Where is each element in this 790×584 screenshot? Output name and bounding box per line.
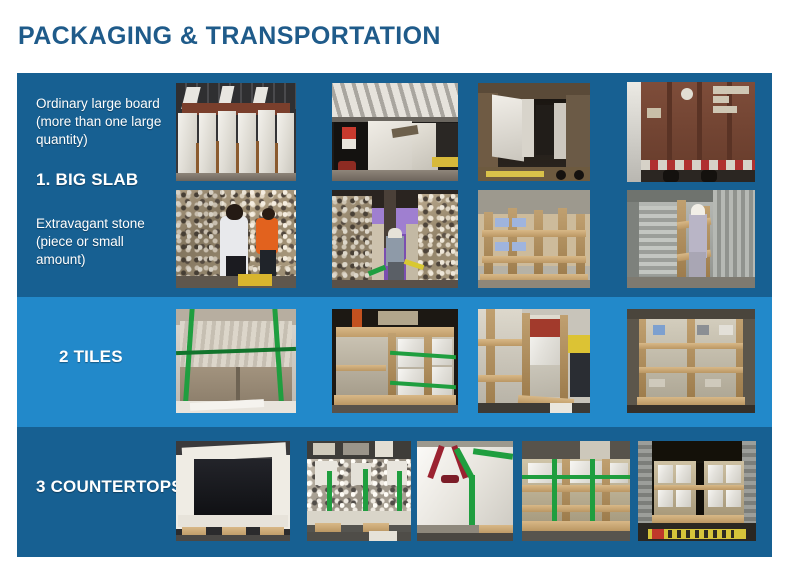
photo-white-wrapped-slabs-warehouse: [176, 83, 296, 181]
photo-worker-between-slab-bundles: [332, 190, 458, 288]
photo-slabs-loading-bay: [332, 83, 458, 181]
photo-wooden-a-frame-crates: [478, 190, 590, 288]
photo-closed-container-doors: [627, 82, 755, 182]
photo-countertop-crates-on-pallets: [522, 441, 630, 541]
photo-crate-being-handled: [478, 309, 590, 413]
row-tiles-heading: 2 TILES: [59, 347, 123, 367]
photo-tile-bundle-green-straps: [176, 309, 296, 413]
photo-slabs-inside-container: [478, 83, 590, 181]
photo-worker-loading-crate-in-container: [627, 190, 755, 288]
photo-wrapped-bundle-red-green-straps: [417, 441, 513, 541]
page-title: PACKAGING & TRANSPORTATION: [18, 22, 441, 51]
row-tiles: 2 TILES: [17, 297, 772, 427]
photo-countertop-crates-in-container: [638, 441, 756, 541]
photo-workers-handling-granite-slab: [176, 190, 296, 288]
row-countertops-heading: 3 COUNTERTOPS: [36, 477, 183, 497]
photo-tile-crates-in-container: [627, 309, 755, 413]
row-big-slab: Ordinary large board (more than one larg…: [17, 73, 772, 297]
row-big-slab-note-top: Ordinary large board (more than one larg…: [36, 95, 176, 149]
photo-tile-crates-on-pallets: [332, 309, 458, 413]
photo-black-countertop-bundle: [176, 441, 290, 541]
row-big-slab-note-bottom: Extravagant stone (piece or small amount…: [36, 215, 176, 269]
row-countertops: 3 COUNTERTOPS: [17, 427, 772, 557]
row-big-slab-heading: 1. BIG SLAB: [36, 170, 138, 190]
photo-grey-countertop-bundle-straps: [307, 441, 411, 541]
packaging-panel: Ordinary large board (more than one larg…: [17, 73, 772, 557]
